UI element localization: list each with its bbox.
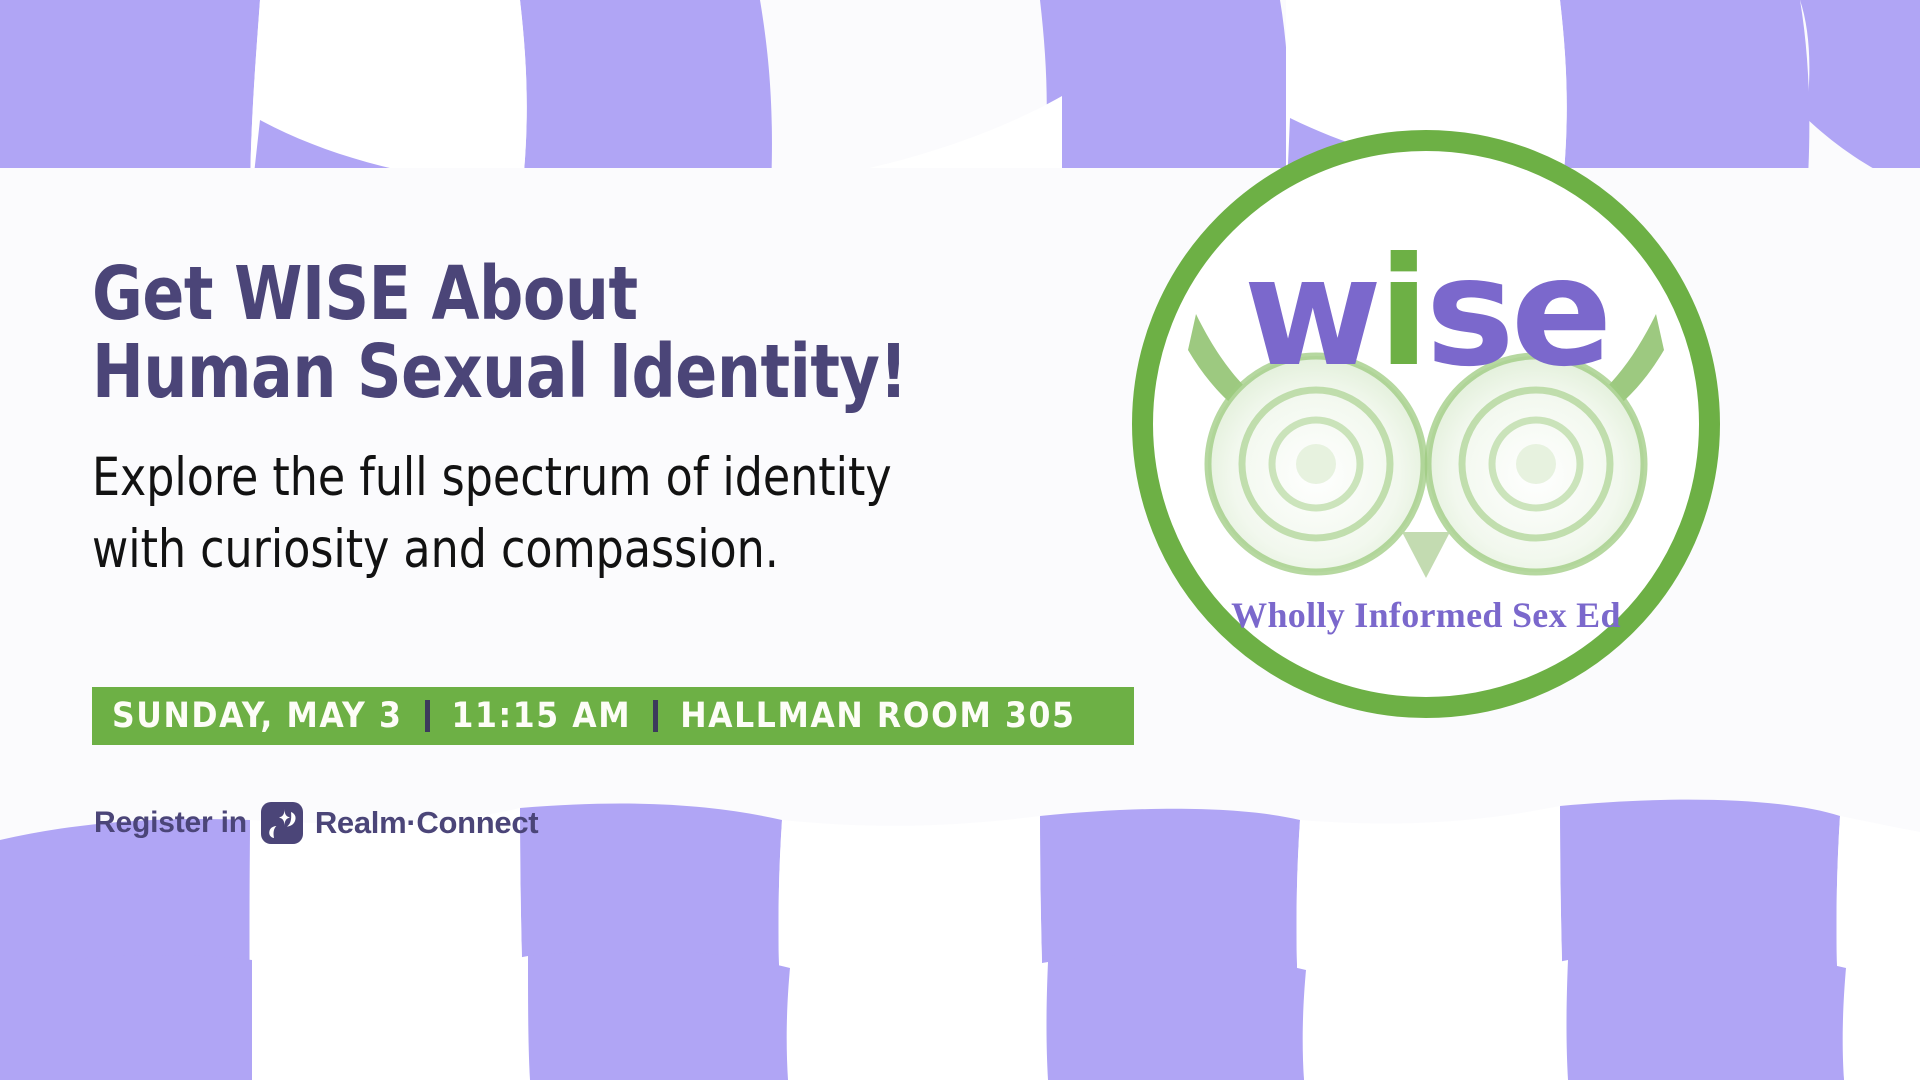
event-location: HALLMAN ROOM 305 bbox=[680, 696, 1075, 736]
wise-letter-i: i bbox=[1378, 226, 1425, 400]
event-time: 11:15 AM bbox=[452, 696, 632, 736]
checker-band-bottom bbox=[0, 720, 1920, 1080]
event-date: SUNDAY, MAY 3 bbox=[112, 696, 403, 736]
wise-tagline: Wholly Informed Sex Ed bbox=[1132, 594, 1720, 636]
page-title: Get WISE About Human Sexual Identity! bbox=[92, 255, 1031, 412]
realm-star-icon bbox=[261, 802, 303, 844]
wise-letter-w: w bbox=[1243, 226, 1378, 400]
wise-letter-e: e bbox=[1511, 226, 1609, 400]
register-label: Register in bbox=[94, 806, 247, 840]
wise-letter-s: s bbox=[1425, 226, 1510, 400]
wise-logo-badge: wise Wholly Informed Sex Ed bbox=[1132, 130, 1720, 718]
realm-connect-wordmark: Realm·Connect bbox=[315, 805, 538, 841]
promo-graphic: Get WISE About Human Sexual Identity! Ex… bbox=[0, 0, 1920, 1080]
banner-separator-icon bbox=[653, 700, 658, 732]
promo-subhead: Explore the full spectrum of identity wi… bbox=[92, 442, 1031, 587]
promo-text-column: Get WISE About Human Sexual Identity! Ex… bbox=[92, 255, 1102, 587]
register-call-to-action[interactable]: Register in Realm·Connect bbox=[94, 800, 538, 846]
banner-separator-icon bbox=[425, 700, 430, 732]
wise-wordmark: wise bbox=[1132, 238, 1720, 388]
event-details-banner: SUNDAY, MAY 3 11:15 AM HALLMAN ROOM 305 bbox=[92, 687, 1134, 745]
